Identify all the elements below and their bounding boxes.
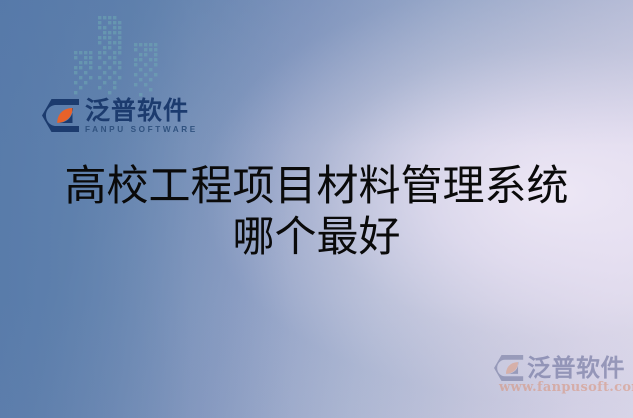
fanpu-logo-mark-icon — [42, 99, 80, 132]
headline-line-1: 高校工程项目材料管理系统 — [0, 160, 633, 211]
brand-name-en: FANPU SOFTWARE — [85, 125, 198, 134]
watermark-name-cn: 泛普软件 — [527, 355, 625, 381]
headline: 高校工程项目材料管理系统 哪个最好 — [0, 160, 633, 262]
watermark-logo-row: 泛普软件 — [494, 355, 626, 381]
watermark: 泛普软件 www.fanpusoft.com — [494, 355, 626, 395]
brand-name-cn: 泛普软件 — [85, 98, 198, 123]
headline-line-2: 哪个最好 — [0, 211, 633, 262]
pixel-skyline-icon — [72, 10, 176, 102]
watermark-url: www.fanpusoft.com — [499, 380, 626, 395]
watermark-logo-mark-icon — [494, 355, 524, 381]
banner-image: 泛普软件 FANPU SOFTWARE 高校工程项目材料管理系统 哪个最好 泛普… — [0, 0, 633, 418]
brand-logo: 泛普软件 FANPU SOFTWARE — [42, 98, 198, 134]
